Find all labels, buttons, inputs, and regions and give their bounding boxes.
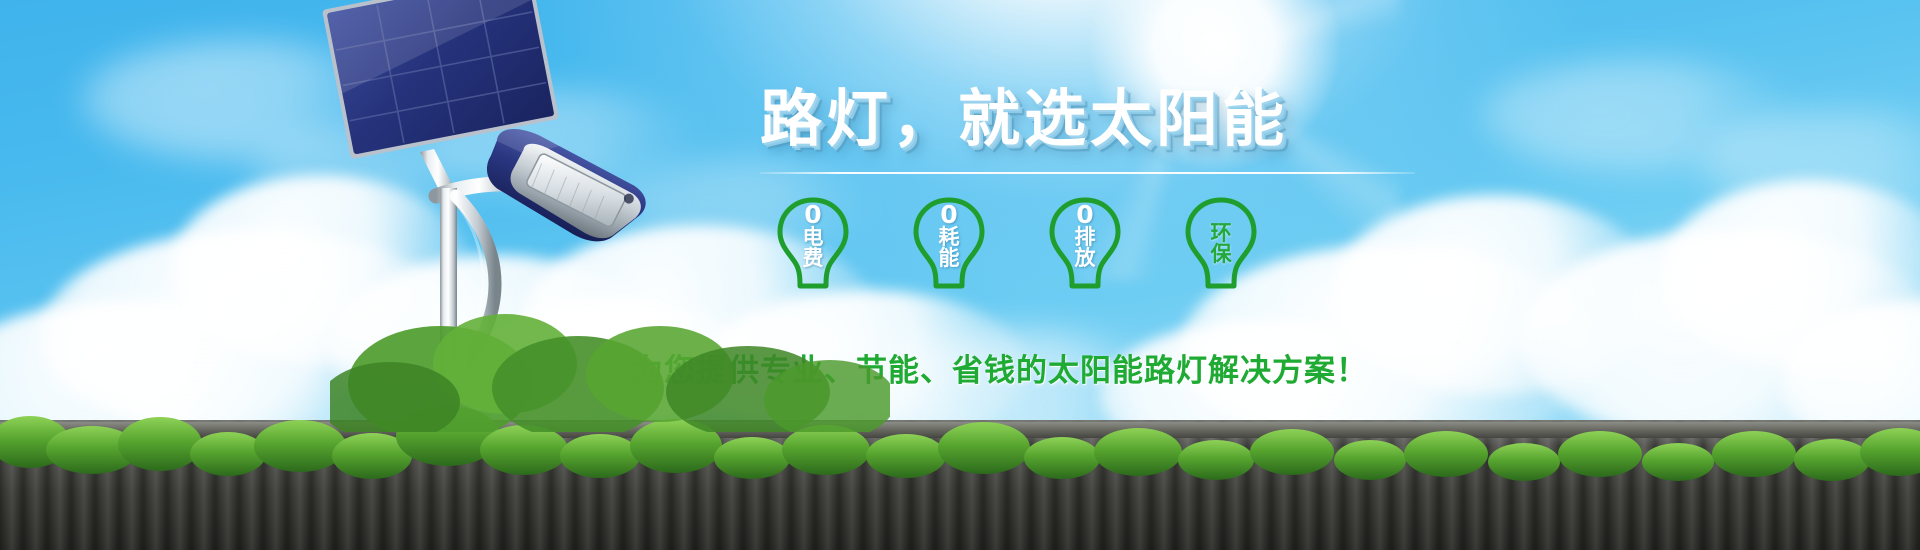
feature-bulb-list: 0 电 费 0 耗 能 0 bbox=[760, 196, 1460, 292]
feature-bulb-3: 环 保 bbox=[1182, 196, 1260, 292]
feature-label-line2: 保 bbox=[1211, 244, 1232, 265]
solar-street-lamp-banner: 路灯，就选太阳能 0 电 费 0 耗 能 bbox=[0, 0, 1920, 550]
divider bbox=[760, 172, 1415, 174]
feature-label-line2: 放 bbox=[1075, 248, 1096, 269]
background-trees bbox=[330, 292, 890, 432]
ground-scene bbox=[0, 390, 1920, 550]
feature-label-line2: 能 bbox=[939, 248, 960, 269]
roof-cap-ridge bbox=[0, 422, 1920, 438]
feature-value: 0 bbox=[1076, 202, 1093, 227]
feature-bulb-0: 0 电 费 bbox=[774, 196, 852, 292]
banner-copy: 路灯，就选太阳能 0 电 费 0 耗 能 bbox=[760, 88, 1460, 292]
page-title: 路灯，就选太阳能 bbox=[760, 88, 1460, 150]
feature-value: 0 bbox=[940, 202, 957, 227]
feature-value: 0 bbox=[804, 202, 821, 227]
feature-bulb-2: 0 排 放 bbox=[1046, 196, 1124, 292]
feature-bulb-1: 0 耗 能 bbox=[910, 196, 988, 292]
roof-tiles bbox=[0, 420, 1920, 550]
feature-label-line2: 费 bbox=[803, 248, 824, 269]
feature-label-line1: 环 bbox=[1211, 223, 1232, 244]
